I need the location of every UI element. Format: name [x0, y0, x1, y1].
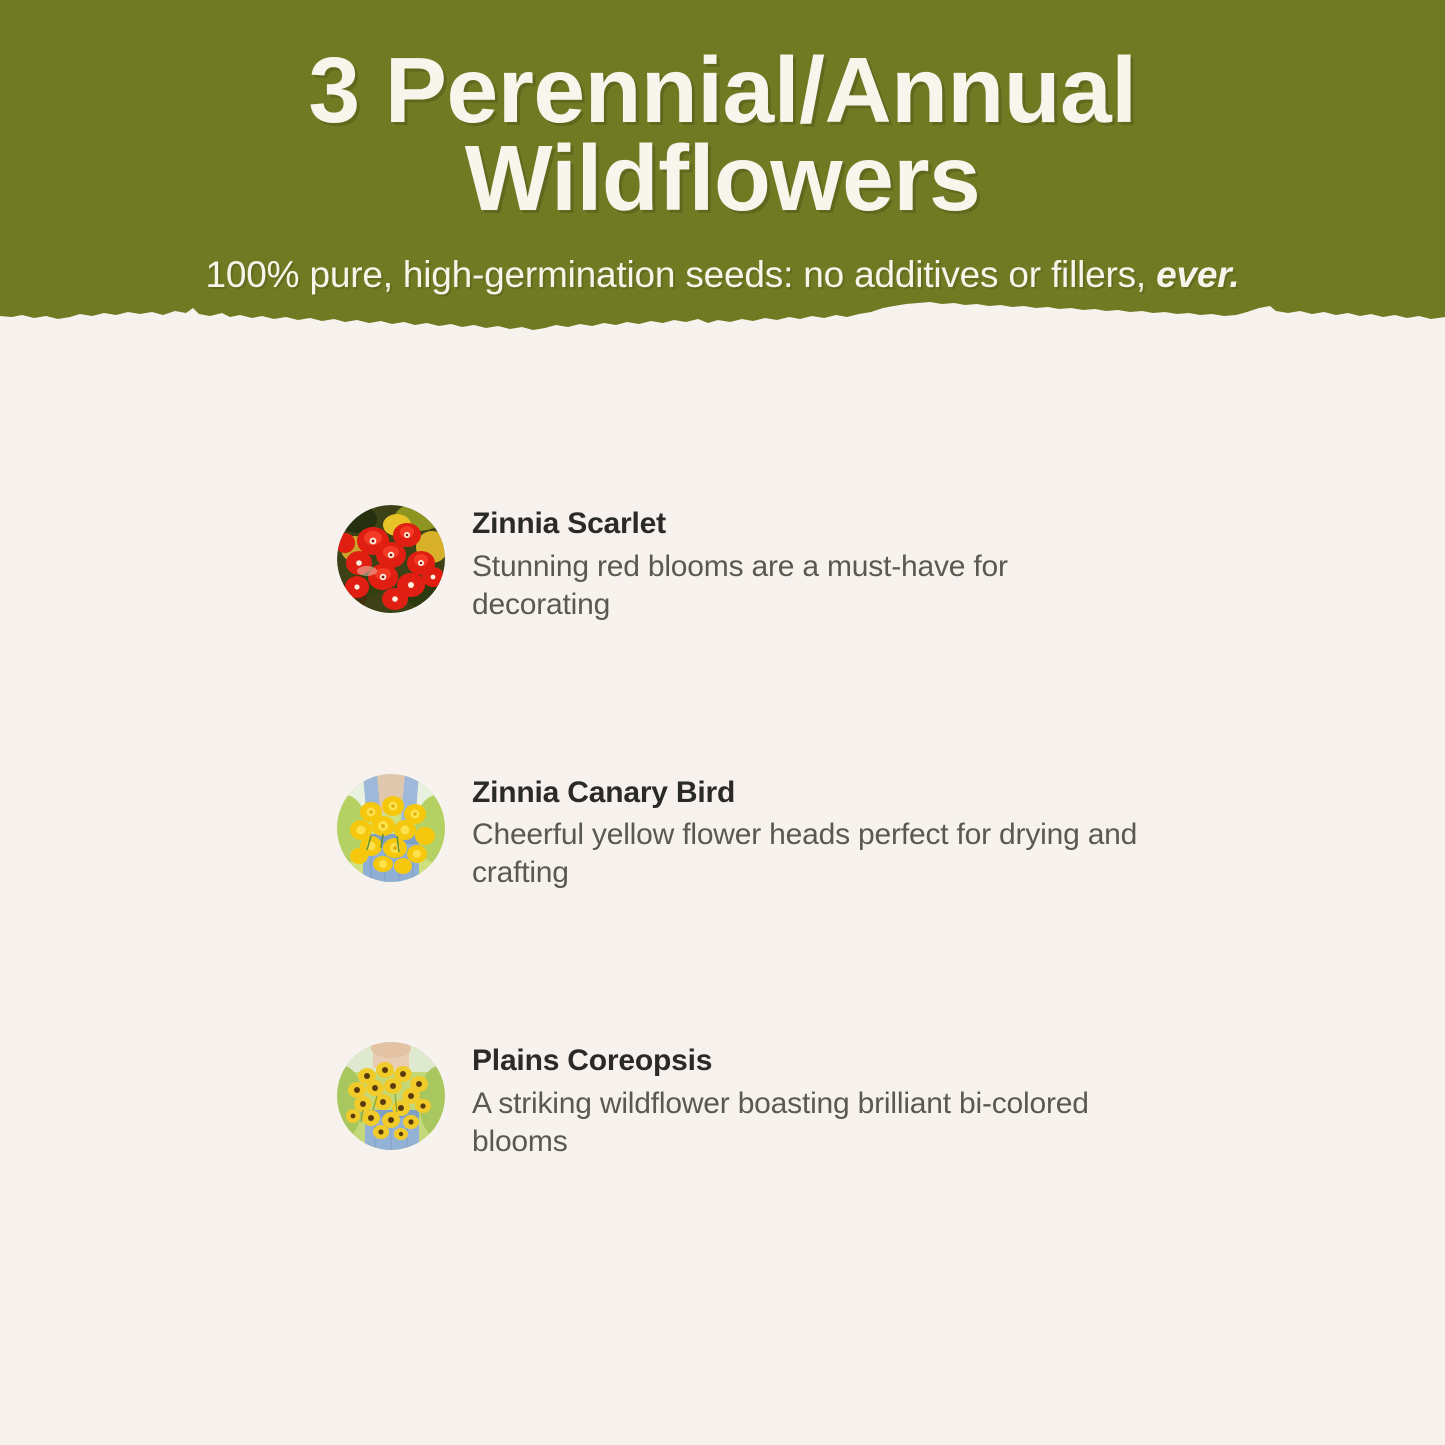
page-header: 3 Perennial/Annual Wildflowers 100% pure…: [0, 0, 1445, 332]
page-subtitle-emphasis: ever.: [1156, 254, 1239, 295]
list-item-description: Stunning red blooms are a must-have for …: [472, 548, 1152, 624]
header-content: 3 Perennial/Annual Wildflowers 100% pure…: [0, 0, 1445, 297]
page-subtitle-main: 100% pure, high-germination seeds: no ad…: [206, 254, 1157, 295]
list-item: Zinnia Canary Bird Cheerful yellow flowe…: [337, 774, 1237, 893]
list-item-title: Plains Coreopsis: [472, 1044, 1152, 1079]
list-item-text: Plains Coreopsis A striking wildflower b…: [472, 1042, 1152, 1161]
list-item-title: Zinnia Canary Bird: [472, 776, 1152, 811]
page-title-line-2: Wildflowers: [465, 126, 981, 230]
list-item-text: Zinnia Scarlet Stunning red blooms are a…: [472, 505, 1152, 624]
page-title: 3 Perennial/Annual Wildflowers: [223, 46, 1223, 223]
page-subtitle: 100% pure, high-germination seeds: no ad…: [0, 253, 1445, 297]
red-zinnia-flowers-photo-icon: [337, 505, 445, 613]
list-item-description: A striking wildflower boasting brilliant…: [472, 1085, 1152, 1161]
list-item-text: Zinnia Canary Bird Cheerful yellow flowe…: [472, 774, 1152, 893]
list-item: Plains Coreopsis A striking wildflower b…: [337, 1042, 1237, 1161]
plains-coreopsis-bouquet-photo-icon: [337, 1042, 445, 1150]
list-item: Zinnia Scarlet Stunning red blooms are a…: [337, 505, 1237, 624]
list-item-description: Cheerful yellow flower heads perfect for…: [472, 816, 1152, 892]
list-item-title: Zinnia Scarlet: [472, 507, 1152, 542]
yellow-zinnia-bouquet-photo-icon: [337, 774, 445, 882]
wildflower-list: Zinnia Scarlet Stunning red blooms are a…: [337, 505, 1237, 1161]
